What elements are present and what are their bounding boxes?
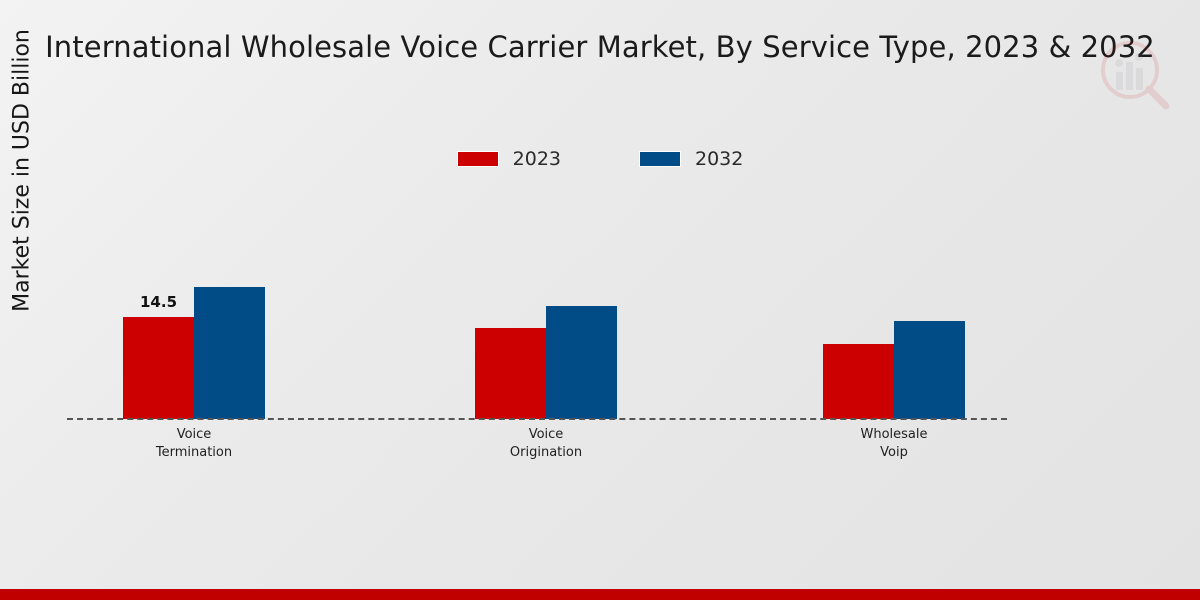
plot-area: VoiceTerminationVoiceOriginationWholesal…: [0, 0, 1200, 600]
bars-layer: [0, 0, 1200, 419]
x-axis-label-line: Origination: [445, 444, 647, 462]
chart-canvas: International Wholesale Voice Carrier Ma…: [0, 0, 1200, 600]
x-axis-baseline: [67, 418, 1007, 420]
bar-2023-wholesale-voip[interactable]: [823, 344, 894, 419]
bar-2032-wholesale-voip[interactable]: [894, 321, 965, 419]
bar-2032-voice-origination[interactable]: [546, 306, 617, 419]
bar-2023-voice-origination[interactable]: [475, 328, 546, 419]
x-axis-label-voice-origination: VoiceOrigination: [445, 426, 647, 462]
x-axis-label-line: Wholesale: [793, 426, 995, 444]
x-axis-label-line: Voice: [93, 426, 295, 444]
x-axis-label-line: Voice: [445, 426, 647, 444]
x-axis-label-voice-termination: VoiceTermination: [93, 426, 295, 462]
bar-2032-voice-termination[interactable]: [194, 287, 265, 419]
footer-accent-bar: [0, 589, 1200, 600]
bar-2023-voice-termination[interactable]: [123, 317, 194, 419]
x-axis-label-wholesale-voip: WholesaleVoip: [793, 426, 995, 462]
bar-value-label: 14.5: [140, 293, 177, 311]
x-axis-label-line: Voip: [793, 444, 995, 462]
x-axis-label-line: Termination: [93, 444, 295, 462]
